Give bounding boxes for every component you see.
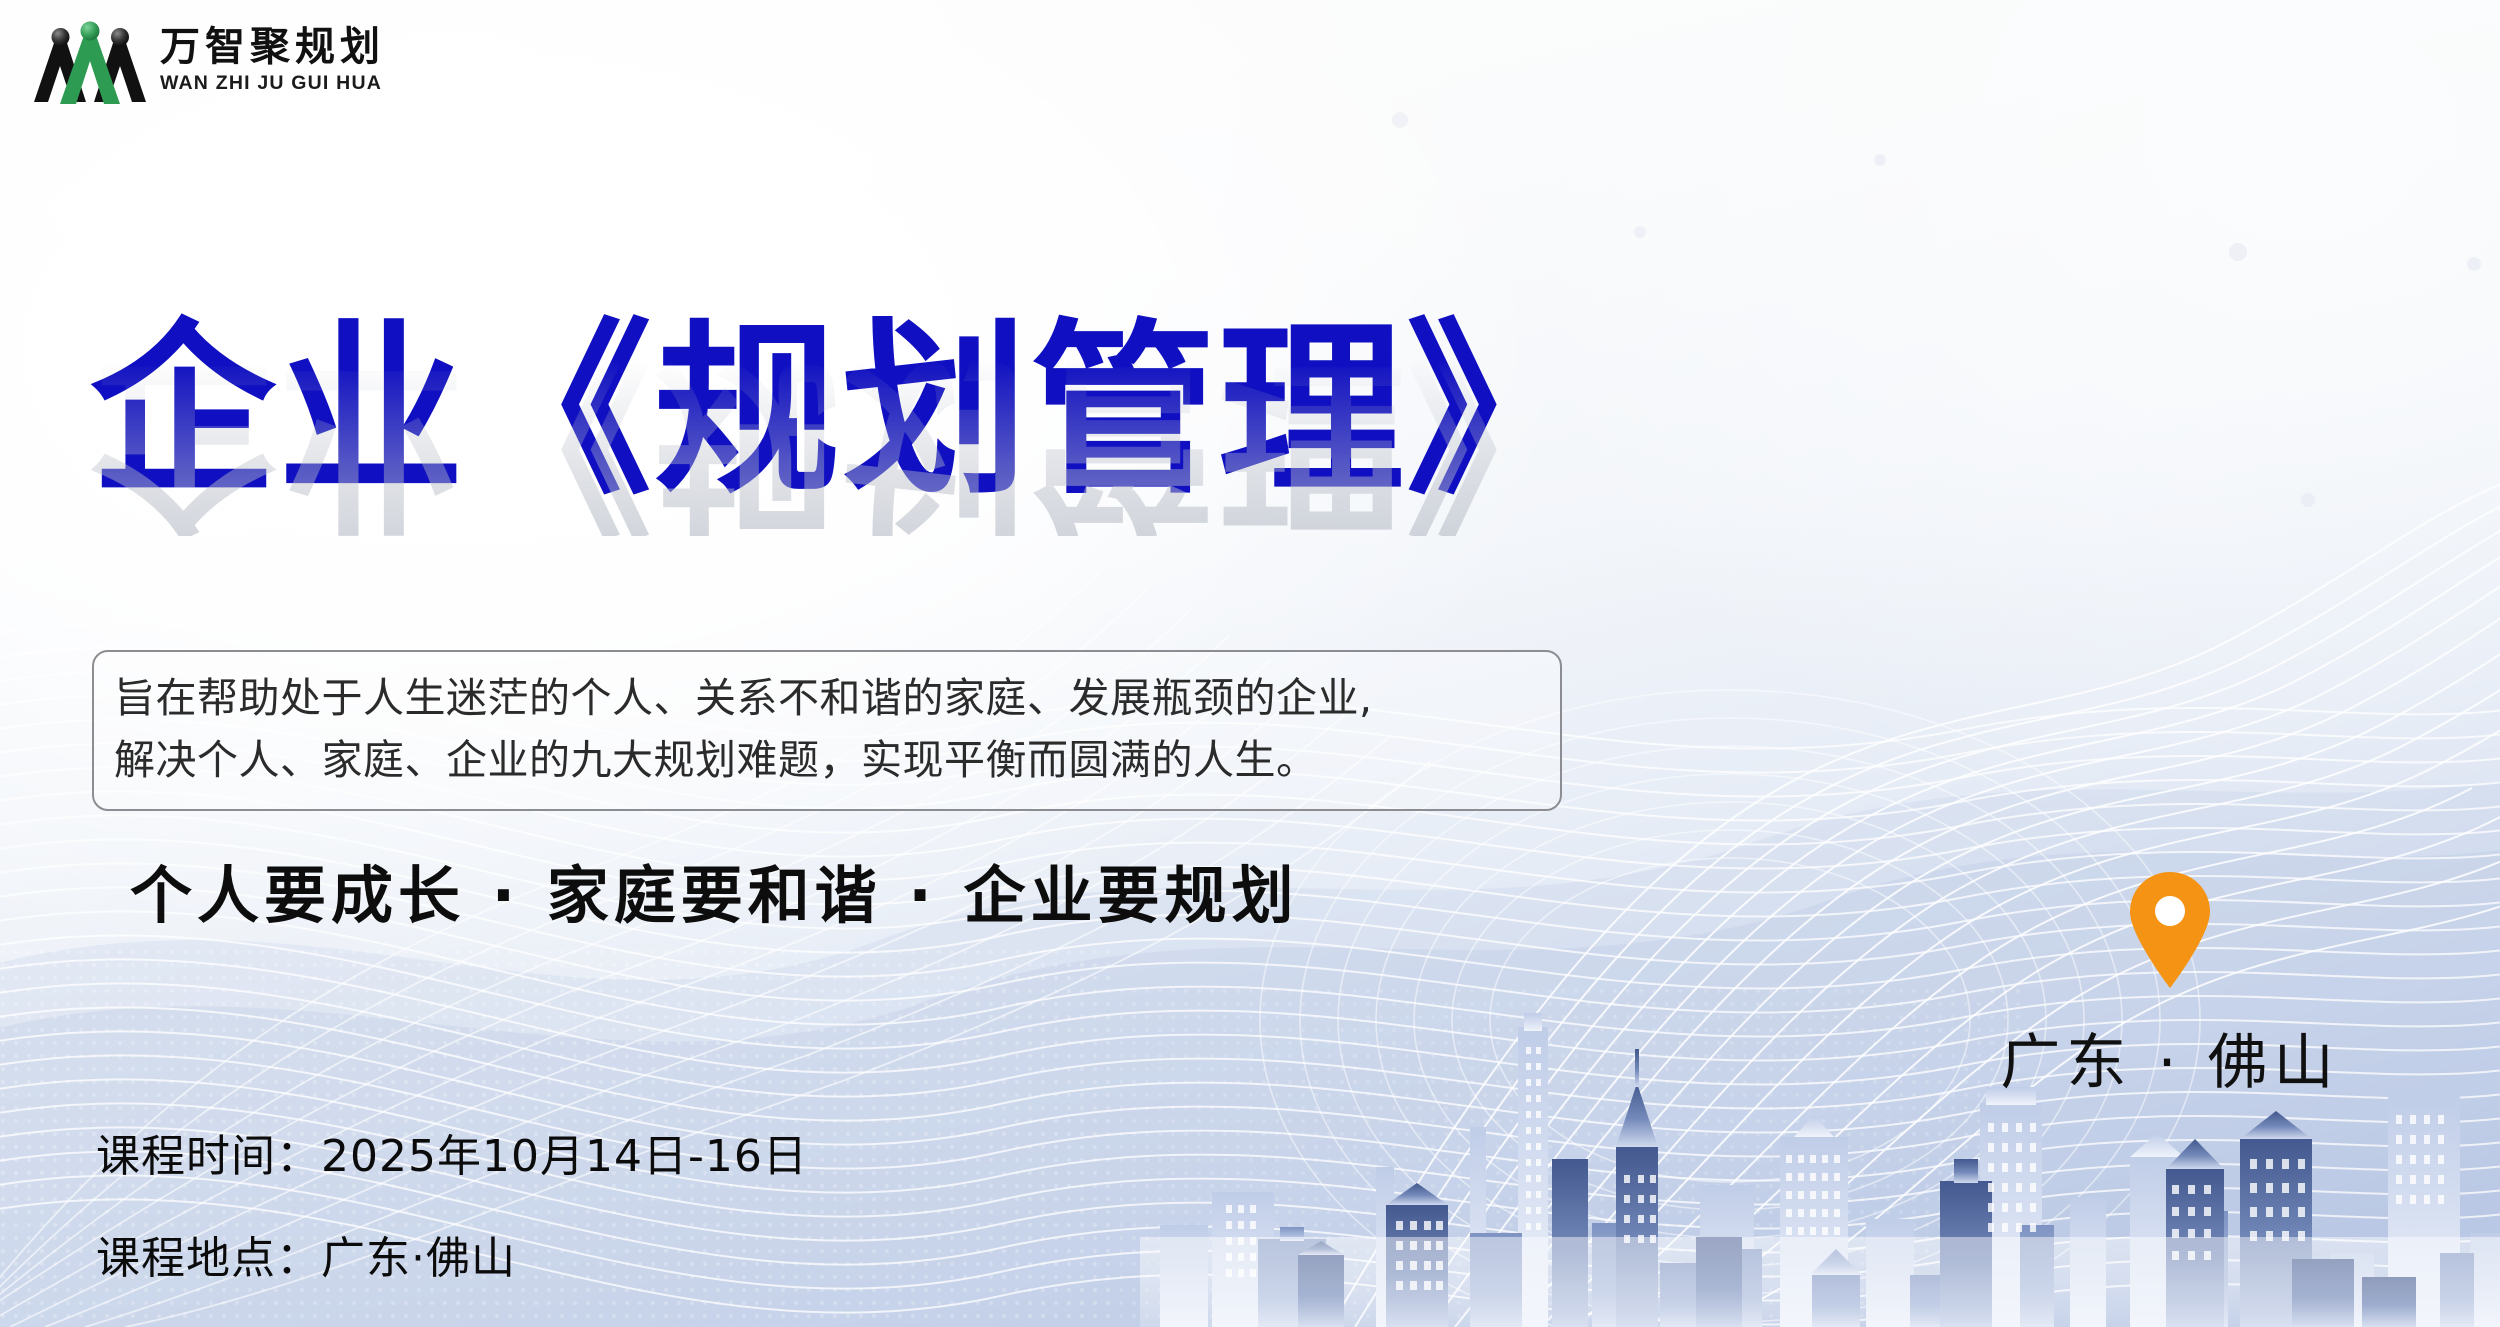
course-date: 课程时间：2025年10月14日-16日 xyxy=(96,1120,808,1184)
brand-name-cn: 万智聚规划 xyxy=(160,27,385,67)
brand-logo[interactable]: 万智聚规划 WAN ZHI JU GUI HUA xyxy=(34,14,385,106)
location-label: 广东 · 佛山 xyxy=(1960,1014,2380,1101)
description-line-1: 旨在帮助处于人生迷茫的个人、关系不和谐的家庭、发展瓶颈的企业, xyxy=(114,668,1538,730)
location-block: 广东 · 佛山 xyxy=(1960,870,2380,1101)
three-people-logo-icon xyxy=(34,14,146,106)
course-info: 课程时间：2025年10月14日-16日 课程地点：广东·佛山 xyxy=(96,1120,808,1286)
brand-name-pinyin: WAN ZHI JU GUI HUA xyxy=(160,74,385,94)
tagline: 个人要成长 · 家庭要和谐 · 企业要规划 xyxy=(130,845,1298,935)
page-title-reflection: 企业《规划管理》 xyxy=(90,350,1594,536)
description-line-2: 解决个人、家庭、企业的九大规划难题，实现平衡而圆满的人生。 xyxy=(114,730,1538,792)
poster-canvas: 万智聚规划 WAN ZHI JU GUI HUA 企业《规划管理》 企业《规划管… xyxy=(0,0,2500,1327)
course-place: 课程地点：广东·佛山 xyxy=(96,1222,808,1286)
map-pin-icon xyxy=(2124,870,2216,990)
hero-title-block: 企业《规划管理》 企业《规划管理》 xyxy=(90,318,1650,618)
brand-logo-text: 万智聚规划 WAN ZHI JU GUI HUA xyxy=(160,27,385,94)
description-box: 旨在帮助处于人生迷茫的个人、关系不和谐的家庭、发展瓶颈的企业, 解决个人、家庭、… xyxy=(92,650,1562,811)
